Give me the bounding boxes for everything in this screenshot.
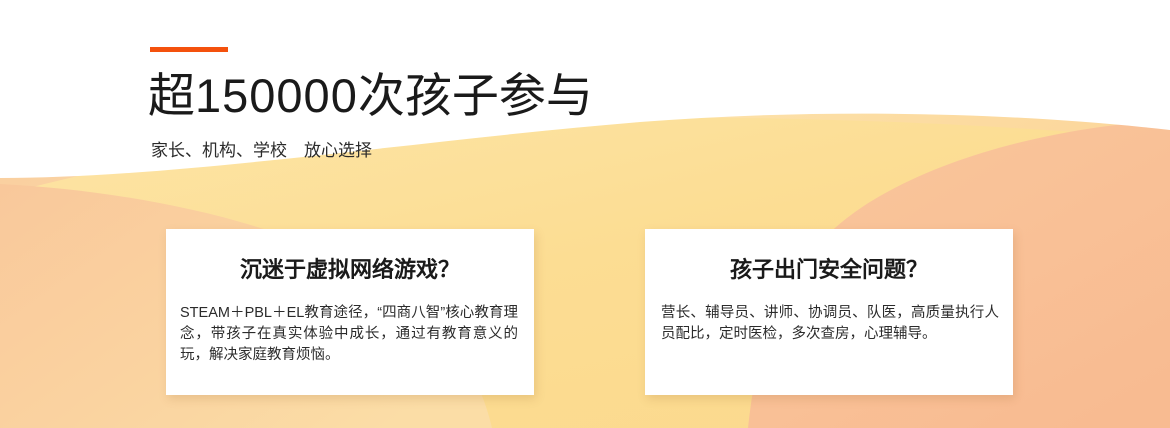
headline-number: 150000 [195,69,358,122]
card-body: STEAM＋PBL＋EL教育途径，“四商八智”核心教育理念，带孩子在真实体验中成… [166,285,534,366]
accent-bar [150,47,228,52]
info-card-right: 孩子出门安全问题？ 营长、辅导员、讲师、协调员、队医，高质量执行人员配比，定时医… [645,229,1013,395]
card-title: 孩子出门安全问题？ [645,229,1013,285]
headline-prefix: 超 [148,69,195,122]
card-title: 沉迷于虚拟网络游戏？ [166,229,534,285]
info-card-left: 沉迷于虚拟网络游戏？ STEAM＋PBL＋EL教育途径，“四商八智”核心教育理念… [166,229,534,395]
card-body: 营长、辅导员、讲师、协调员、队医，高质量执行人员配比，定时医检，多次查房，心理辅… [645,285,1013,345]
promo-banner: 超150000次孩子参与 家长、机构、学校 放心选择 沉迷于虚拟网络游戏？ ST… [0,0,1170,428]
page-title: 超150000次孩子参与 [148,68,850,124]
page-subtitle: 家长、机构、学校 放心选择 [151,138,850,164]
headline-suffix: 次孩子参与 [358,69,593,122]
headline-block: 超150000次孩子参与 家长、机构、学校 放心选择 [150,40,850,164]
